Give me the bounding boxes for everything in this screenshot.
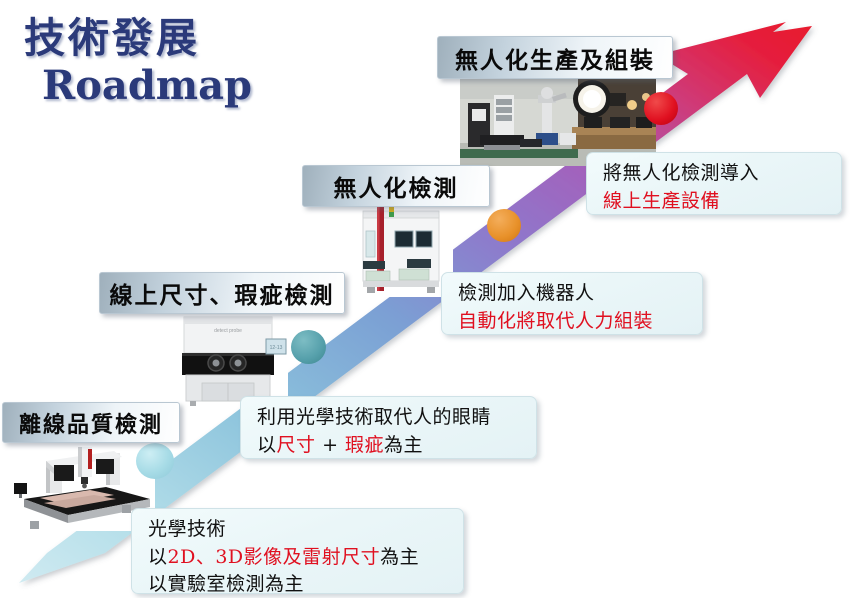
callout-line: 以實驗室檢測為主 [148, 571, 449, 598]
callout-stage-4: 將無人化檢測導入線上生產設備 [586, 152, 842, 215]
callout-line: 利用光學技術取代人的眼睛 [257, 404, 522, 432]
automated-inspection-cell-photo [347, 201, 453, 297]
stage-label-text: 線上尺寸、瑕疵檢測 [110, 276, 335, 310]
title-line-roadmap: Roadmap [42, 62, 324, 109]
stage-label-offline-quality-inspection[interactable]: 離線品質檢測 [2, 402, 180, 443]
callout-text: 以實驗室檢測為主 [148, 573, 304, 595]
svg-text:12-13: 12-13 [270, 345, 283, 351]
callout-line: 光學技術 [148, 516, 449, 544]
callout-text: + [316, 434, 346, 456]
svg-text:detect probe: detect probe [214, 328, 242, 334]
page-title: 技術發展 Roadmap [24, 14, 324, 110]
callout-text: 利用光學技術取代人的眼睛 [257, 406, 491, 428]
milestone-node-stage-1[interactable] [136, 443, 174, 479]
callout-highlight-text: 線上生產設備 [603, 190, 720, 212]
callout-text: 為主 [380, 546, 419, 568]
callout-stage-2: 利用光學技術取代人的眼睛以尺寸 + 瑕疵為主 [240, 396, 537, 459]
callout-line: 自動化將取代人力組裝 [458, 308, 688, 336]
milestone-node-stage-2[interactable] [291, 330, 326, 364]
callout-text: 為主 [384, 434, 423, 456]
stage-label-unmanned-production-assembly[interactable]: 無人化生產及組裝 [437, 36, 673, 79]
callout-line: 以尺寸 + 瑕疵為主 [257, 432, 522, 460]
callout-stage-1: 光學技術以2D、3D影像及雷射尺寸為主以實驗室檢測為主 [131, 508, 464, 594]
callout-text: 將無人化檢測導入 [603, 162, 759, 184]
milestone-node-stage-3[interactable] [487, 209, 521, 242]
callout-text: 檢測加入機器人 [458, 282, 595, 304]
callout-highlight-text: 瑕疵 [345, 434, 384, 456]
callout-highlight-text: 自動化將取代人力組裝 [458, 310, 653, 332]
callout-highlight-text: 尺寸 [277, 434, 316, 456]
milestone-node-stage-4[interactable] [644, 92, 678, 125]
stage-label-text: 離線品質檢測 [19, 407, 163, 439]
title-line-chinese: 技術發展 [24, 14, 324, 62]
callout-stage-3: 檢測加入機器人自動化將取代人力組裝 [441, 272, 703, 335]
callout-text: 以 [148, 546, 168, 568]
stage-label-text: 無人化檢測 [334, 169, 459, 203]
stage-label-unmanned-inspection[interactable]: 無人化檢測 [302, 165, 490, 207]
stage-label-inline-dimension-defect-inspection[interactable]: 線上尺寸、瑕疵檢測 [99, 272, 345, 314]
stage-label-text: 無人化生產及組裝 [455, 41, 655, 75]
callout-line: 檢測加入機器人 [458, 280, 688, 308]
callout-highlight-text: 2D、3D影像及雷射尺寸 [168, 546, 381, 568]
roadmap-slide: detect probe 12-13 [0, 0, 858, 598]
inline-inspection-machine-photo: detect probe 12-13 [172, 313, 288, 407]
callout-line: 線上生產設備 [603, 188, 827, 216]
callout-line: 將無人化檢測導入 [603, 160, 827, 188]
callout-line: 以2D、3D影像及雷射尺寸為主 [148, 544, 449, 572]
callout-text: 光學技術 [148, 518, 226, 540]
callout-text: 以 [257, 434, 277, 456]
